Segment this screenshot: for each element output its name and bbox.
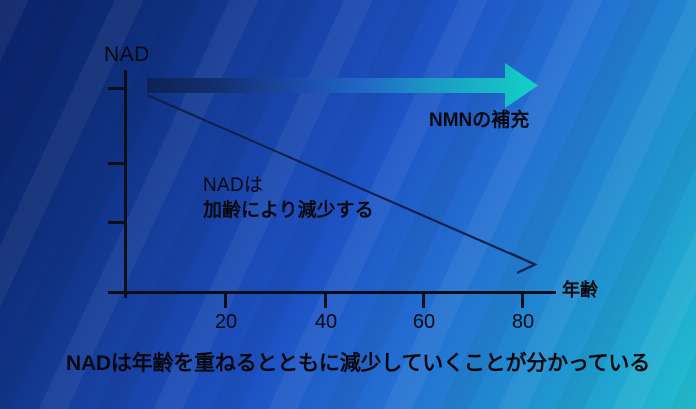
x-tick-label-80: 80 xyxy=(499,311,547,334)
x-tick-label-60: 60 xyxy=(400,311,448,334)
x-axis-line xyxy=(108,291,556,294)
x-axis-tick-40 xyxy=(324,291,327,308)
x-axis-tick-80 xyxy=(521,291,524,308)
x-tick-label-40: 40 xyxy=(302,311,350,334)
chart-canvas: NAD 年齢 20 40 60 80 NADは 加齢により減 xyxy=(0,0,696,409)
x-axis-title: 年齢 xyxy=(562,279,598,303)
chart-caption: NADは年齢を重ねるとともに減少していくことが分かっている xyxy=(66,350,650,378)
nmn-supplementation-arrow xyxy=(147,63,538,108)
y-axis-title: NAD xyxy=(104,41,150,69)
nad-decline-annotation-line1: NADは xyxy=(203,173,374,198)
y-axis-tick-3 xyxy=(108,221,126,224)
nad-decline-annotation-line2: 加齢により減少する xyxy=(203,198,374,223)
x-axis-tick-20 xyxy=(224,291,227,308)
x-axis-tick-60 xyxy=(422,291,425,308)
y-axis-line xyxy=(124,70,127,298)
nad-decline-annotation: NADは 加齢により減少する xyxy=(203,173,374,223)
x-tick-label-20: 20 xyxy=(202,311,250,334)
y-axis-tick-2 xyxy=(108,162,126,165)
nmn-annotation: NMNの補充 xyxy=(429,108,529,133)
y-axis-tick-1 xyxy=(108,87,126,90)
